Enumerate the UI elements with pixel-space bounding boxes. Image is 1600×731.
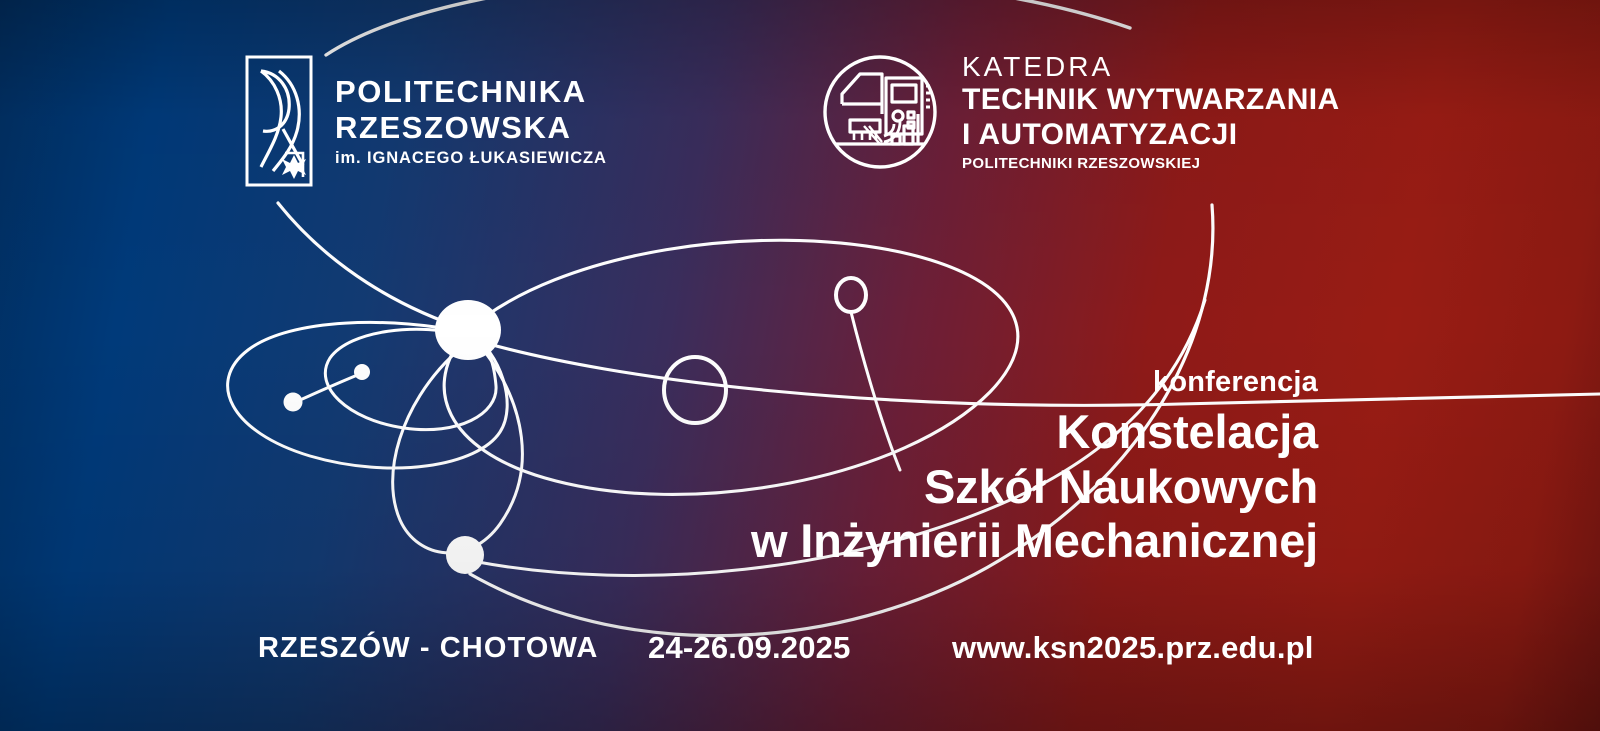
constellation-graphic (0, 0, 1600, 731)
conference-title-line3: w Inżynierii Mechanicznej (751, 514, 1318, 569)
node-quaternary (354, 364, 370, 380)
university-logo: POLITECHNIKA RZESZOWSKA im. IGNACEGO ŁUK… (245, 55, 607, 187)
orbit-ring-large (664, 357, 726, 423)
department-name-line3: I AUTOMATYZACJI (962, 117, 1340, 152)
node-primary (435, 300, 501, 360)
department-affiliation: POLITECHNIKI RZESZOWSKIEJ (962, 155, 1340, 172)
politechnika-rzeszowska-emblem-icon (245, 55, 313, 187)
department-name-line2: TECHNIK WYTWARZANIA (962, 82, 1340, 117)
department-name-line1: KATEDRA (962, 52, 1340, 81)
event-website-url[interactable]: www.ksn2025.prz.edu.pl (952, 630, 1314, 666)
katedra-automation-circle-emblem-icon (820, 52, 940, 172)
node-secondary (446, 536, 484, 574)
university-patron: im. IGNACEGO ŁUKASIEWICZA (335, 149, 607, 168)
node-tertiary (284, 393, 303, 412)
conference-kicker: konferencja (751, 368, 1318, 397)
conference-banner: POLITECHNIKA RZESZOWSKA im. IGNACEGO ŁUK… (0, 0, 1600, 731)
university-name-line1: POLITECHNIKA (335, 74, 607, 110)
orbit-ring-small (836, 278, 866, 312)
department-logo: KATEDRA TECHNIK WYTWARZANIA I AUTOMATYZA… (820, 52, 1340, 172)
conference-title-line2: Szkół Naukowych (751, 460, 1318, 515)
event-location: RZESZÓW - CHOTOWA (258, 632, 598, 665)
conference-title-block: konferencja Konstelacja Szkół Naukowych … (751, 368, 1318, 569)
university-name-line2: RZESZOWSKA (335, 110, 607, 146)
event-date: 24-26.09.2025 (648, 630, 851, 666)
conference-title-line1: Konstelacja (751, 405, 1318, 460)
